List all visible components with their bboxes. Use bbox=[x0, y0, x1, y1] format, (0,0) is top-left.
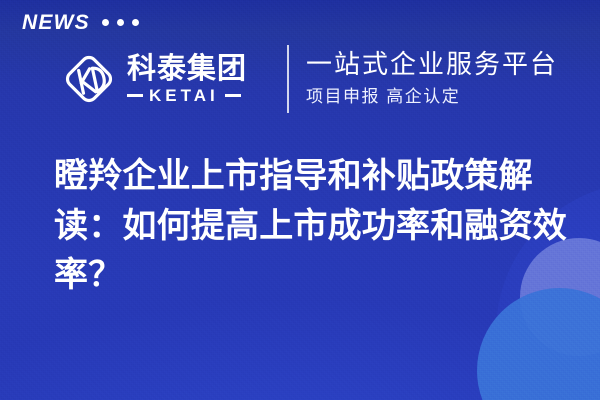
news-label: NEWS bbox=[22, 12, 90, 33]
news-banner: NEWS 科泰集团 KETAI bbox=[0, 0, 600, 400]
brand-name-en-row: KETAI bbox=[127, 87, 247, 104]
brand-name-en: KETAI bbox=[149, 87, 219, 104]
headline: 瞪羚企业上市指导和补贴政策解读：如何提高上市成功率和融资效率？ bbox=[54, 152, 570, 301]
brand-row: 科泰集团 KETAI bbox=[60, 44, 247, 114]
wordmark-rule-left bbox=[127, 94, 143, 97]
tagline-secondary: 项目申报 高企认定 bbox=[306, 87, 558, 107]
dot-icon bbox=[117, 19, 124, 26]
brand-divider bbox=[287, 45, 289, 113]
news-kicker: NEWS bbox=[22, 12, 139, 33]
tagline-block: 一站式企业服务平台 项目申报 高企认定 bbox=[306, 44, 558, 114]
dot-icon bbox=[132, 19, 139, 26]
ketai-diamond-logo-icon bbox=[60, 50, 118, 108]
news-dots bbox=[102, 19, 139, 26]
brand-wordmark: 科泰集团 KETAI bbox=[127, 54, 247, 103]
brand-name-cn: 科泰集团 bbox=[127, 54, 247, 84]
wordmark-rule-right bbox=[225, 94, 241, 97]
decorative-circle-bright bbox=[477, 288, 600, 400]
tagline-primary: 一站式企业服务平台 bbox=[306, 50, 558, 80]
dot-icon bbox=[102, 19, 109, 26]
